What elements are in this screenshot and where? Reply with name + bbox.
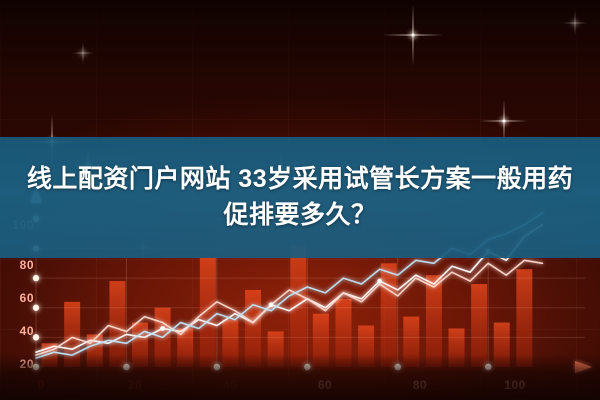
title-banner: 线上配资门户网站 33岁采用试管长方案一般用药 促排要多久？: [0, 137, 600, 258]
background-bottom-vignette: [0, 354, 600, 400]
chart-bar: [200, 257, 216, 367]
chart-bar: [516, 269, 532, 367]
page-title-line-2: 促排要多久？: [223, 199, 376, 232]
y-tick-dot: [33, 334, 39, 340]
banner-image: 100 80 60 40 20 0 20 40 60 80 100 线上配资门户…: [0, 0, 600, 400]
chart-bar: [381, 263, 397, 367]
chart-data-point: [377, 279, 382, 284]
page-title-line-1: 线上配资门户网站 33岁采用试管长方案一般用药: [27, 163, 573, 196]
chart-data-point: [160, 326, 165, 331]
y-tick-dot: [33, 305, 39, 311]
y-tick-dot: [33, 275, 39, 281]
chart-bar: [290, 246, 306, 367]
chart-data-point: [269, 302, 274, 307]
chart-bars: [42, 246, 533, 367]
